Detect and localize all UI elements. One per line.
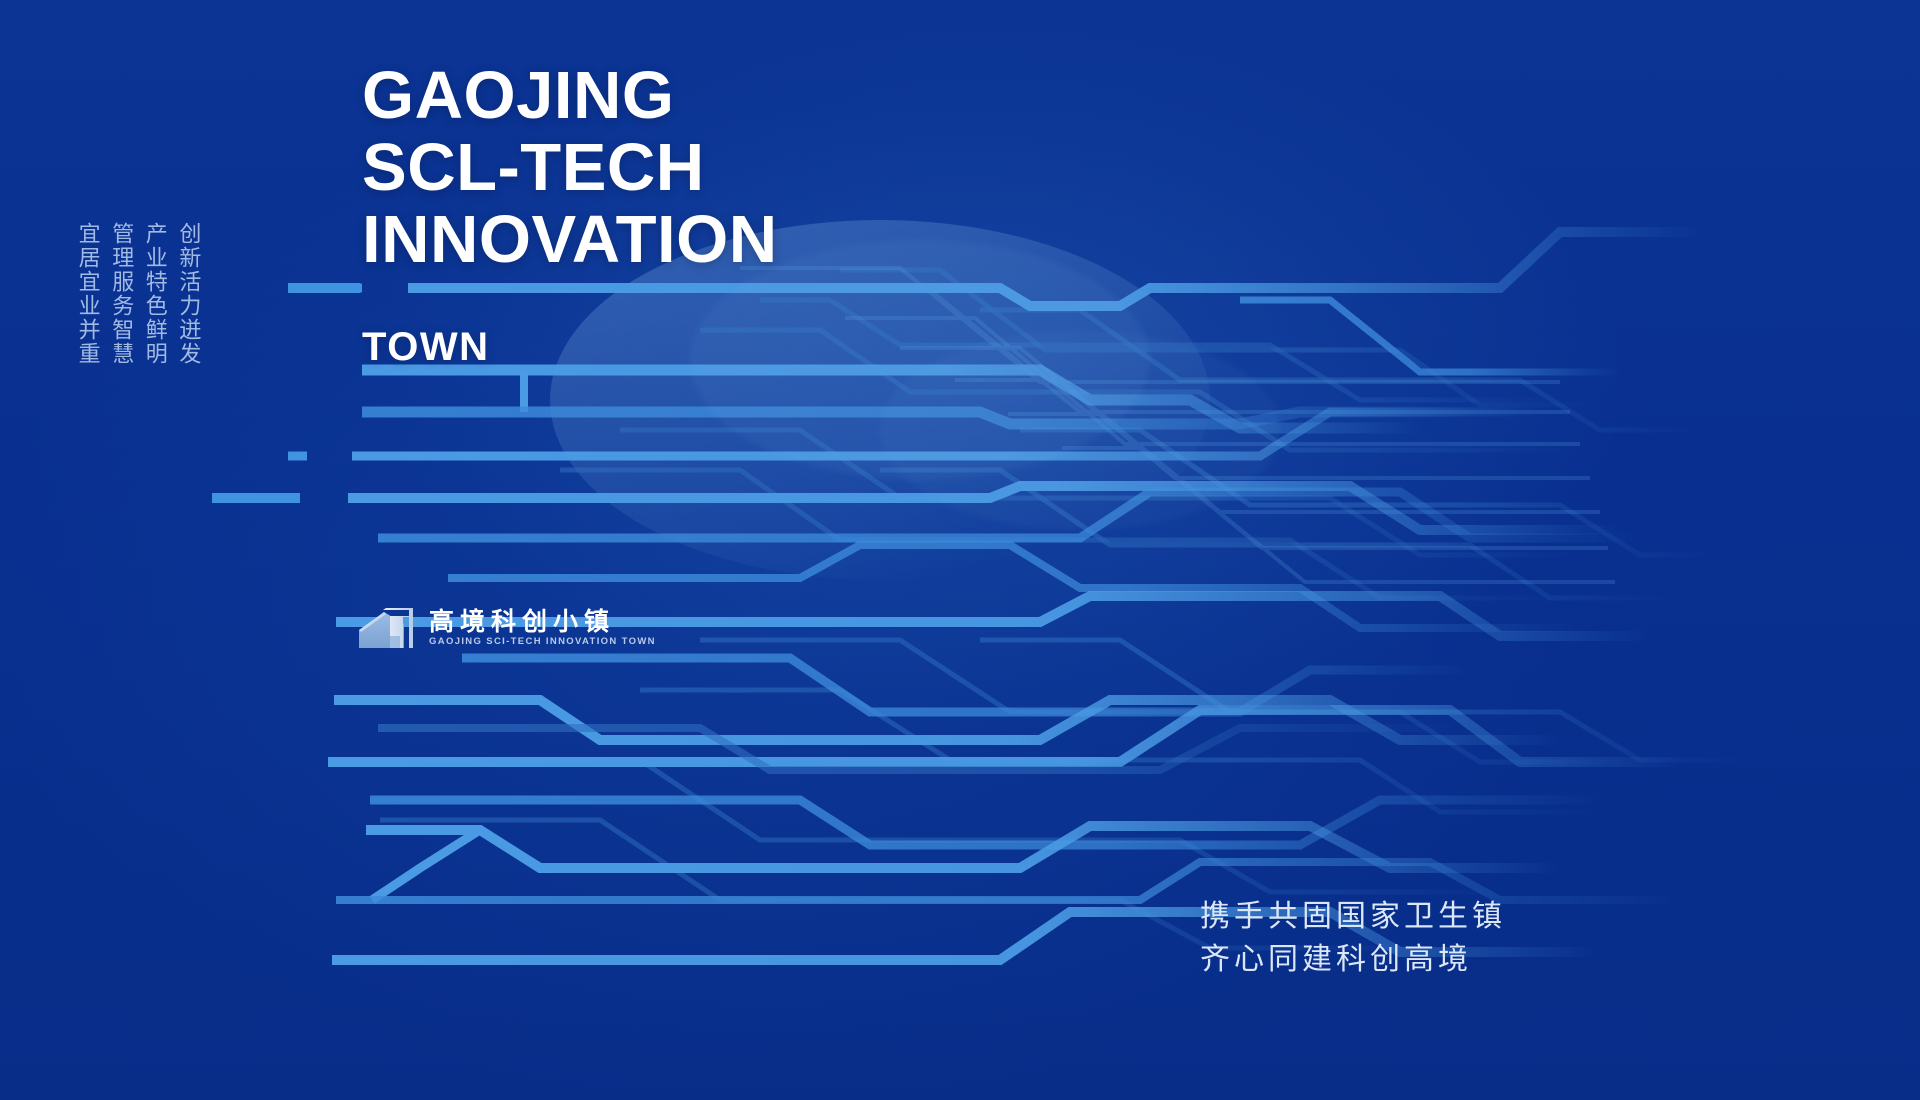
logo-chinese-name: 高境科创小镇 bbox=[429, 609, 656, 634]
circuit-line-artwork bbox=[0, 0, 1920, 1100]
headline-line-2: SCL-TECH bbox=[362, 134, 778, 201]
vertical-slogan-column-1: 创新活力迸发 bbox=[173, 222, 202, 366]
logo-text-stack: 高境科创小镇 GAOJING SCI-TECH INNOVATION TOWN bbox=[429, 609, 656, 647]
vertical-slogan-column-3: 管理服务智慧 bbox=[106, 222, 135, 366]
vertical-slogan-column-2: 产业特色鲜明 bbox=[139, 222, 168, 366]
bottom-slogan-line-2: 齐心同建科创高境 bbox=[1200, 939, 1506, 982]
headline-line-3: INNOVATION bbox=[362, 206, 778, 273]
page-title: GAOJING SCL-TECH INNOVATION bbox=[362, 62, 778, 278]
headline-town-word: TOWN bbox=[362, 325, 489, 370]
house-building-icon bbox=[356, 604, 418, 652]
vertical-slogan-column-4: 宜居宜业并重 bbox=[72, 222, 101, 366]
vertical-slogan: 创新活力迸发 产业特色鲜明 管理服务智慧 宜居宜业并重 bbox=[72, 222, 201, 366]
poster-canvas: 创新活力迸发 产业特色鲜明 管理服务智慧 宜居宜业并重 GAOJING SCL-… bbox=[0, 0, 1920, 1100]
logo-english-name: GAOJING SCI-TECH INNOVATION TOWN bbox=[429, 638, 656, 647]
logo-lockup: 高境科创小镇 GAOJING SCI-TECH INNOVATION TOWN bbox=[356, 604, 656, 652]
bottom-slogan: 携手共固国家卫生镇 齐心同建科创高境 bbox=[1200, 896, 1506, 981]
headline-line-1: GAOJING bbox=[362, 62, 778, 129]
bottom-slogan-line-1: 携手共固国家卫生镇 bbox=[1200, 896, 1506, 939]
